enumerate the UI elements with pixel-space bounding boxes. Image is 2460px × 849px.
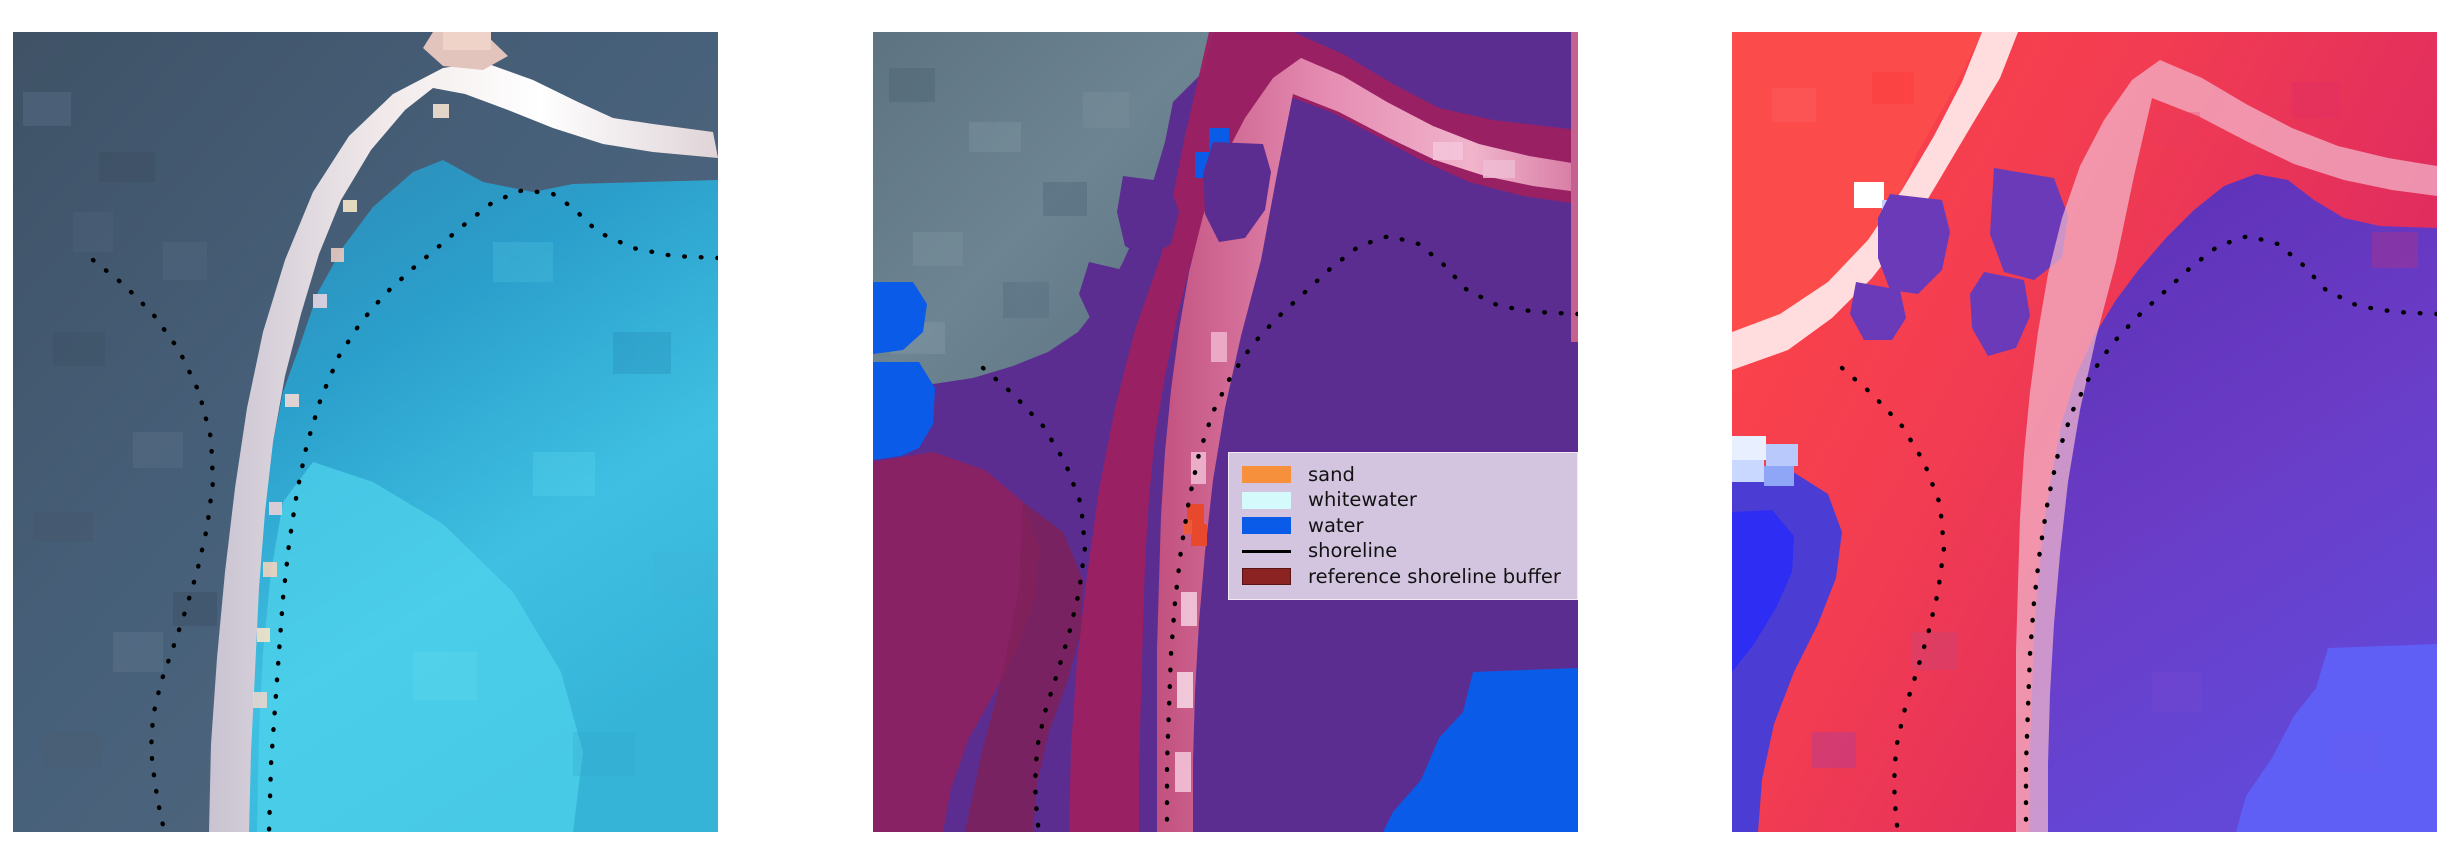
- legend-item-shoreline: shoreline: [1238, 539, 1570, 565]
- legend-label-water: water: [1308, 515, 1364, 537]
- legend-label-shoreline: shoreline: [1308, 540, 1397, 562]
- panel-classified: 2025-05-07-10-05-07: [873, 32, 1578, 832]
- reference-buffer-swatch-icon: [1242, 568, 1291, 585]
- l8-index-image: [1732, 32, 2437, 832]
- legend-item-sand: sand: [1238, 462, 1570, 488]
- shoreline-line-icon: [1242, 543, 1291, 560]
- figure-root: sar1561: [0, 0, 2460, 849]
- legend-label-reference-shoreline-buffer: reference shoreline buffer: [1308, 566, 1561, 588]
- water-swatch-icon: [1242, 517, 1291, 534]
- sand-swatch-icon: [1242, 466, 1291, 483]
- legend: sand whitewater water shoreline referenc…: [1228, 452, 1578, 600]
- legend-label-whitewater: whitewater: [1308, 489, 1417, 511]
- satellite-image-sar1561: [13, 32, 718, 832]
- panel-l8: L8: [1732, 32, 2437, 832]
- classification-overlay-image: [873, 32, 1578, 832]
- legend-item-whitewater: whitewater: [1238, 488, 1570, 514]
- legend-label-sand: sand: [1308, 464, 1355, 486]
- panel-sar1561: sar1561: [13, 32, 718, 832]
- legend-item-reference-shoreline-buffer: reference shoreline buffer: [1238, 564, 1570, 590]
- whitewater-swatch-icon: [1242, 492, 1291, 509]
- legend-item-water: water: [1238, 513, 1570, 539]
